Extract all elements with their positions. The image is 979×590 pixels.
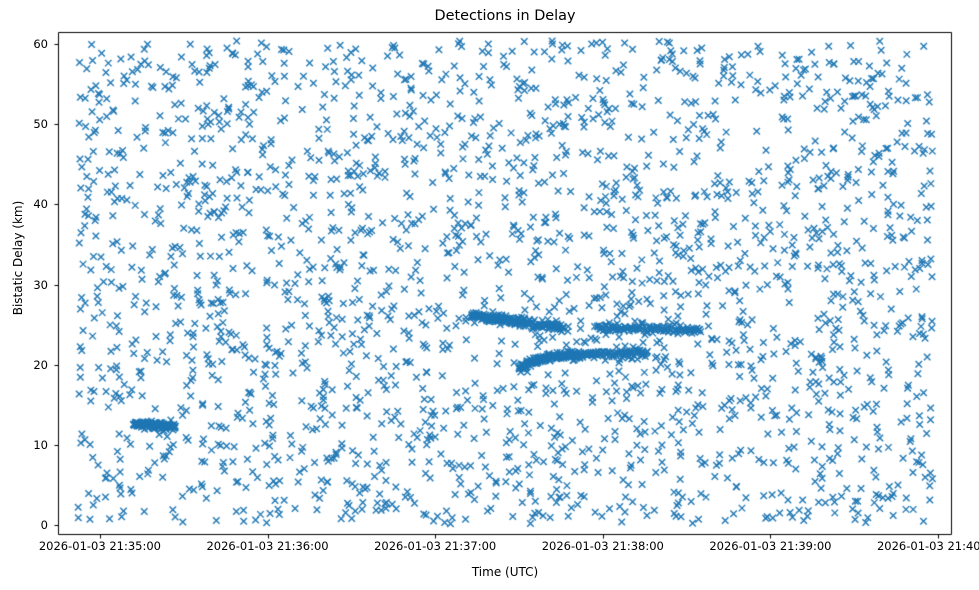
- x-tick-label: 2026-01-03 21:39:00: [709, 539, 831, 553]
- y-tick-label: 60: [8, 37, 48, 51]
- x-tick-label: 2026-01-03 21:38:00: [542, 539, 664, 553]
- y-tick-label: 20: [8, 358, 48, 372]
- x-tick-label: 2026-01-03 21:36:00: [206, 539, 328, 553]
- chart-title: Detections in Delay: [58, 8, 952, 24]
- x-tick-label: 2026-01-03 21:35:00: [39, 539, 161, 553]
- y-tick-label: 40: [8, 197, 48, 211]
- x-tick-label: 2026-01-03 21:37:00: [374, 539, 496, 553]
- y-tick-label: 0: [8, 518, 48, 532]
- y-tick-label: 50: [8, 117, 48, 131]
- x-axis-label: Time (UTC): [58, 565, 952, 579]
- y-tick-label: 30: [8, 278, 48, 292]
- y-tick-label: 10: [8, 438, 48, 452]
- figure-canvas: Detections in Delay Bistatic Delay (km) …: [0, 0, 979, 590]
- x-tick-label: 2026-01-03 21:40:00: [877, 539, 979, 553]
- scatter-plot-canvas[interactable]: [0, 0, 979, 590]
